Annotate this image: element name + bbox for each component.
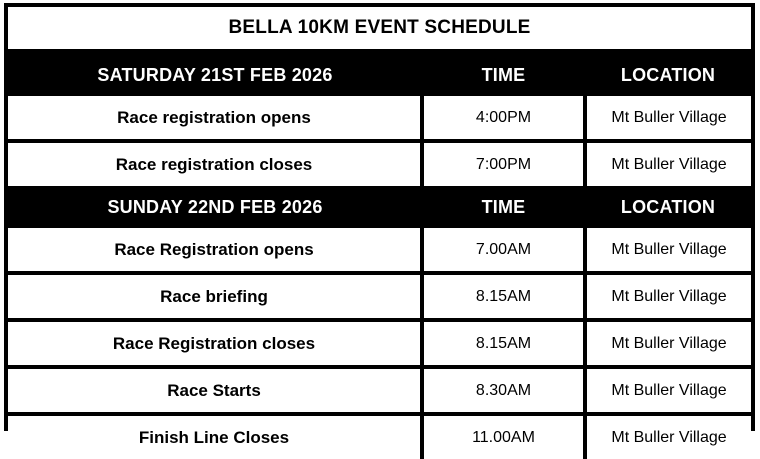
table-row: Race Registration closes 8.15AM Mt Bulle… bbox=[8, 320, 751, 367]
event-time: 8.30AM bbox=[422, 367, 585, 414]
table-row: Race briefing 8.15AM Mt Buller Village bbox=[8, 273, 751, 320]
schedule-grid: BELLA 10KM EVENT SCHEDULE SATURDAY 21ST … bbox=[8, 7, 751, 459]
event-time: 4:00PM bbox=[422, 96, 585, 141]
event-location: Mt Buller Village bbox=[585, 96, 751, 141]
event-location: Mt Buller Village bbox=[585, 273, 751, 320]
table-row: Race Registration opens 7.00AM Mt Buller… bbox=[8, 228, 751, 273]
section-header-saturday: SATURDAY 21ST FEB 2026 TIME LOCATION bbox=[8, 52, 751, 97]
event-time: 7:00PM bbox=[422, 141, 585, 186]
column-header-time-saturday: TIME bbox=[422, 52, 585, 97]
event-name: Race Registration opens bbox=[8, 228, 422, 273]
table-row: Race registration opens 4:00PM Mt Buller… bbox=[8, 96, 751, 141]
event-name: Race briefing bbox=[8, 273, 422, 320]
event-time: 8.15AM bbox=[422, 273, 585, 320]
table-row: Race registration closes 7:00PM Mt Bulle… bbox=[8, 141, 751, 186]
day-label-sunday: SUNDAY 22ND FEB 2026 bbox=[8, 186, 422, 228]
event-name: Race Starts bbox=[8, 367, 422, 414]
event-location: Mt Buller Village bbox=[585, 320, 751, 367]
event-location: Mt Buller Village bbox=[585, 141, 751, 186]
day-label-saturday: SATURDAY 21ST FEB 2026 bbox=[8, 52, 422, 97]
page-title: BELLA 10KM EVENT SCHEDULE bbox=[8, 7, 751, 52]
column-header-location-saturday: LOCATION bbox=[585, 52, 751, 97]
column-header-time-sunday: TIME bbox=[422, 186, 585, 228]
event-location: Mt Buller Village bbox=[585, 367, 751, 414]
table-row: Race Starts 8.30AM Mt Buller Village bbox=[8, 367, 751, 414]
section-header-sunday: SUNDAY 22ND FEB 2026 TIME LOCATION bbox=[8, 186, 751, 228]
event-name: Race registration closes bbox=[8, 141, 422, 186]
event-location: Mt Buller Village bbox=[585, 228, 751, 273]
event-name: Race Registration closes bbox=[8, 320, 422, 367]
column-header-location-sunday: LOCATION bbox=[585, 186, 751, 228]
event-schedule-table: BELLA 10KM EVENT SCHEDULE SATURDAY 21ST … bbox=[4, 3, 755, 431]
event-name: Race registration opens bbox=[8, 96, 422, 141]
event-time: 7.00AM bbox=[422, 228, 585, 273]
table-title-row: BELLA 10KM EVENT SCHEDULE bbox=[8, 7, 751, 52]
event-time: 8.15AM bbox=[422, 320, 585, 367]
